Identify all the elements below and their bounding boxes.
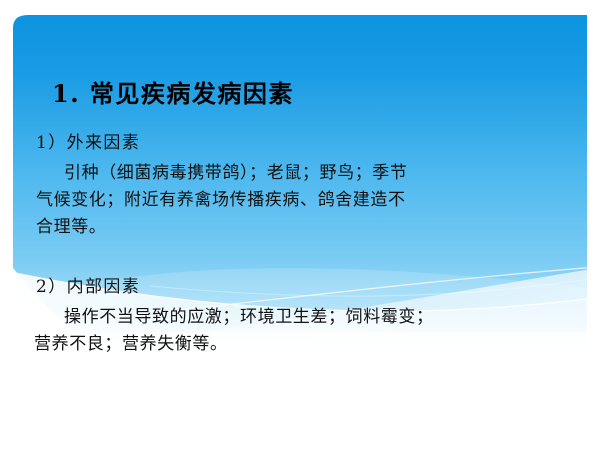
slide-content: 1. 常见疾病发病因素 1）外来因素 引种（细菌病毒携带鸽）；老鼠；野鸟；季节 … xyxy=(0,0,600,450)
section-1-line-1: 引种（细菌病毒携带鸽）；老鼠；野鸟；季节 xyxy=(64,158,408,183)
section-1-heading: 1）外来因素 xyxy=(36,128,140,153)
section-1-line-2: 气候变化；附近有养禽场传播疾病、鸽舍建造不 xyxy=(36,185,406,210)
page-title: 1. 常见疾病发病因素 xyxy=(52,74,294,109)
slide-canvas: 1. 常见疾病发病因素 1）外来因素 引种（细菌病毒携带鸽）；老鼠；野鸟；季节 … xyxy=(0,0,600,450)
section-2-heading: 2）内部因素 xyxy=(36,272,140,297)
section-2-line-2: 营养不良；营养失衡等。 xyxy=(34,329,228,354)
section-2-line-1: 操作不当导致的应激；环境卫生差；饲料霉变； xyxy=(64,302,434,327)
section-1-line-3: 合理等。 xyxy=(36,212,106,237)
